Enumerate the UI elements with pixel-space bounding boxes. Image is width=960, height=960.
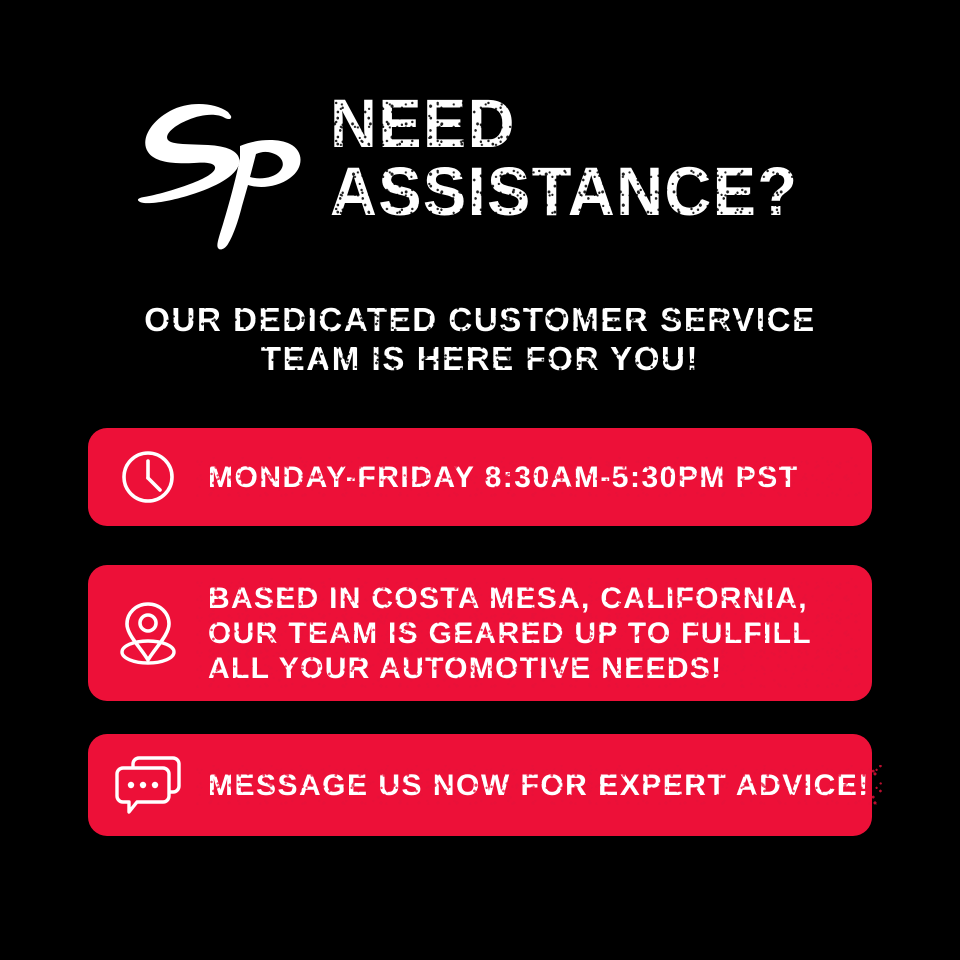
- location-line-2: OUR TEAM IS GEARED UP TO FULFILL: [208, 616, 848, 651]
- info-bar-message[interactable]: MESSAGE US NOW FOR EXPERT ADVICE!: [88, 734, 872, 836]
- page-title: NEED ASSISTANCE?: [330, 86, 828, 226]
- subheading-line-2: TEAM IS HERE FOR YOU!: [0, 339, 960, 378]
- subheading: OUR DEDICATED CUSTOMER SERVICE TEAM IS H…: [0, 300, 960, 378]
- sp-monogram-logo: [132, 94, 322, 254]
- info-bar-message-text: MESSAGE US NOW FOR EXPERT ADVICE!: [208, 768, 894, 803]
- subheading-line-1: OUR DEDICATED CUSTOMER SERVICE: [0, 300, 960, 339]
- chat-bubbles-icon: [88, 734, 208, 836]
- location-line-1: BASED IN COSTA MESA, CALIFORNIA,: [208, 581, 848, 616]
- location-pin-icon: [88, 565, 208, 701]
- info-bar-hours-text: MONDAY-FRIDAY 8:30AM-5:30PM PST: [208, 460, 872, 495]
- header: NEED ASSISTANCE?: [0, 86, 960, 254]
- info-bar-location[interactable]: BASED IN COSTA MESA, CALIFORNIA, OUR TEA…: [88, 565, 872, 701]
- headline-line-2: ASSISTANCE?: [330, 158, 798, 226]
- info-bar-location-text: BASED IN COSTA MESA, CALIFORNIA, OUR TEA…: [208, 581, 872, 686]
- clock-icon: [88, 428, 208, 526]
- hours-line-1: MONDAY-FRIDAY 8:30AM-5:30PM PST: [208, 460, 848, 495]
- location-line-3: ALL YOUR AUTOMOTIVE NEEDS!: [208, 651, 848, 686]
- info-bar-hours[interactable]: MONDAY-FRIDAY 8:30AM-5:30PM PST: [88, 428, 872, 526]
- message-line-1: MESSAGE US NOW FOR EXPERT ADVICE!: [208, 768, 870, 803]
- promo-poster: NEED ASSISTANCE? OUR DEDICATED CUSTOMER …: [0, 0, 960, 960]
- headline-line-1: NEED: [330, 90, 798, 158]
